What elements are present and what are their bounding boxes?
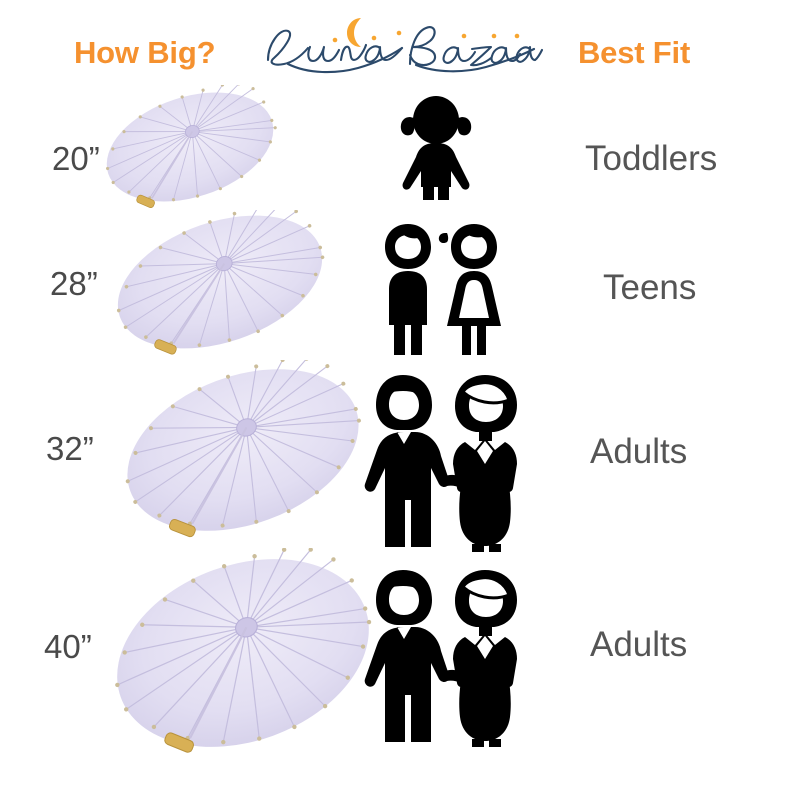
how-big-column-heading: How Big? — [74, 35, 215, 71]
toddler-girl-pictogram — [397, 95, 475, 200]
size-guide-infographic: How Big? Best Fit — [0, 0, 800, 800]
best-fit-column-heading: Best Fit — [578, 35, 690, 71]
fit-label-toddlers: Toddlers — [585, 139, 717, 179]
teen-couple-pictogram — [375, 222, 510, 357]
size-label-40: 40” — [44, 628, 92, 666]
parasol-illustration-32 — [118, 360, 368, 540]
adult-couple-pictogram — [363, 372, 528, 552]
size-label-28: 28” — [50, 265, 98, 303]
parasol-illustration-20 — [100, 85, 280, 210]
fit-label-adults-32: Adults — [590, 432, 687, 472]
size-label-20: 20” — [52, 140, 100, 178]
adult-couple-pictogram — [363, 562, 528, 752]
size-label-32: 32” — [46, 430, 94, 468]
fit-label-adults-40: Adults — [590, 625, 687, 665]
parasol-illustration-28 — [110, 210, 330, 355]
fit-label-teens: Teens — [603, 268, 696, 308]
parasol-illustration-40 — [108, 548, 378, 763]
crescent-moon-icon — [347, 18, 361, 47]
luna-bazaar-logo[interactable] — [258, 14, 544, 76]
